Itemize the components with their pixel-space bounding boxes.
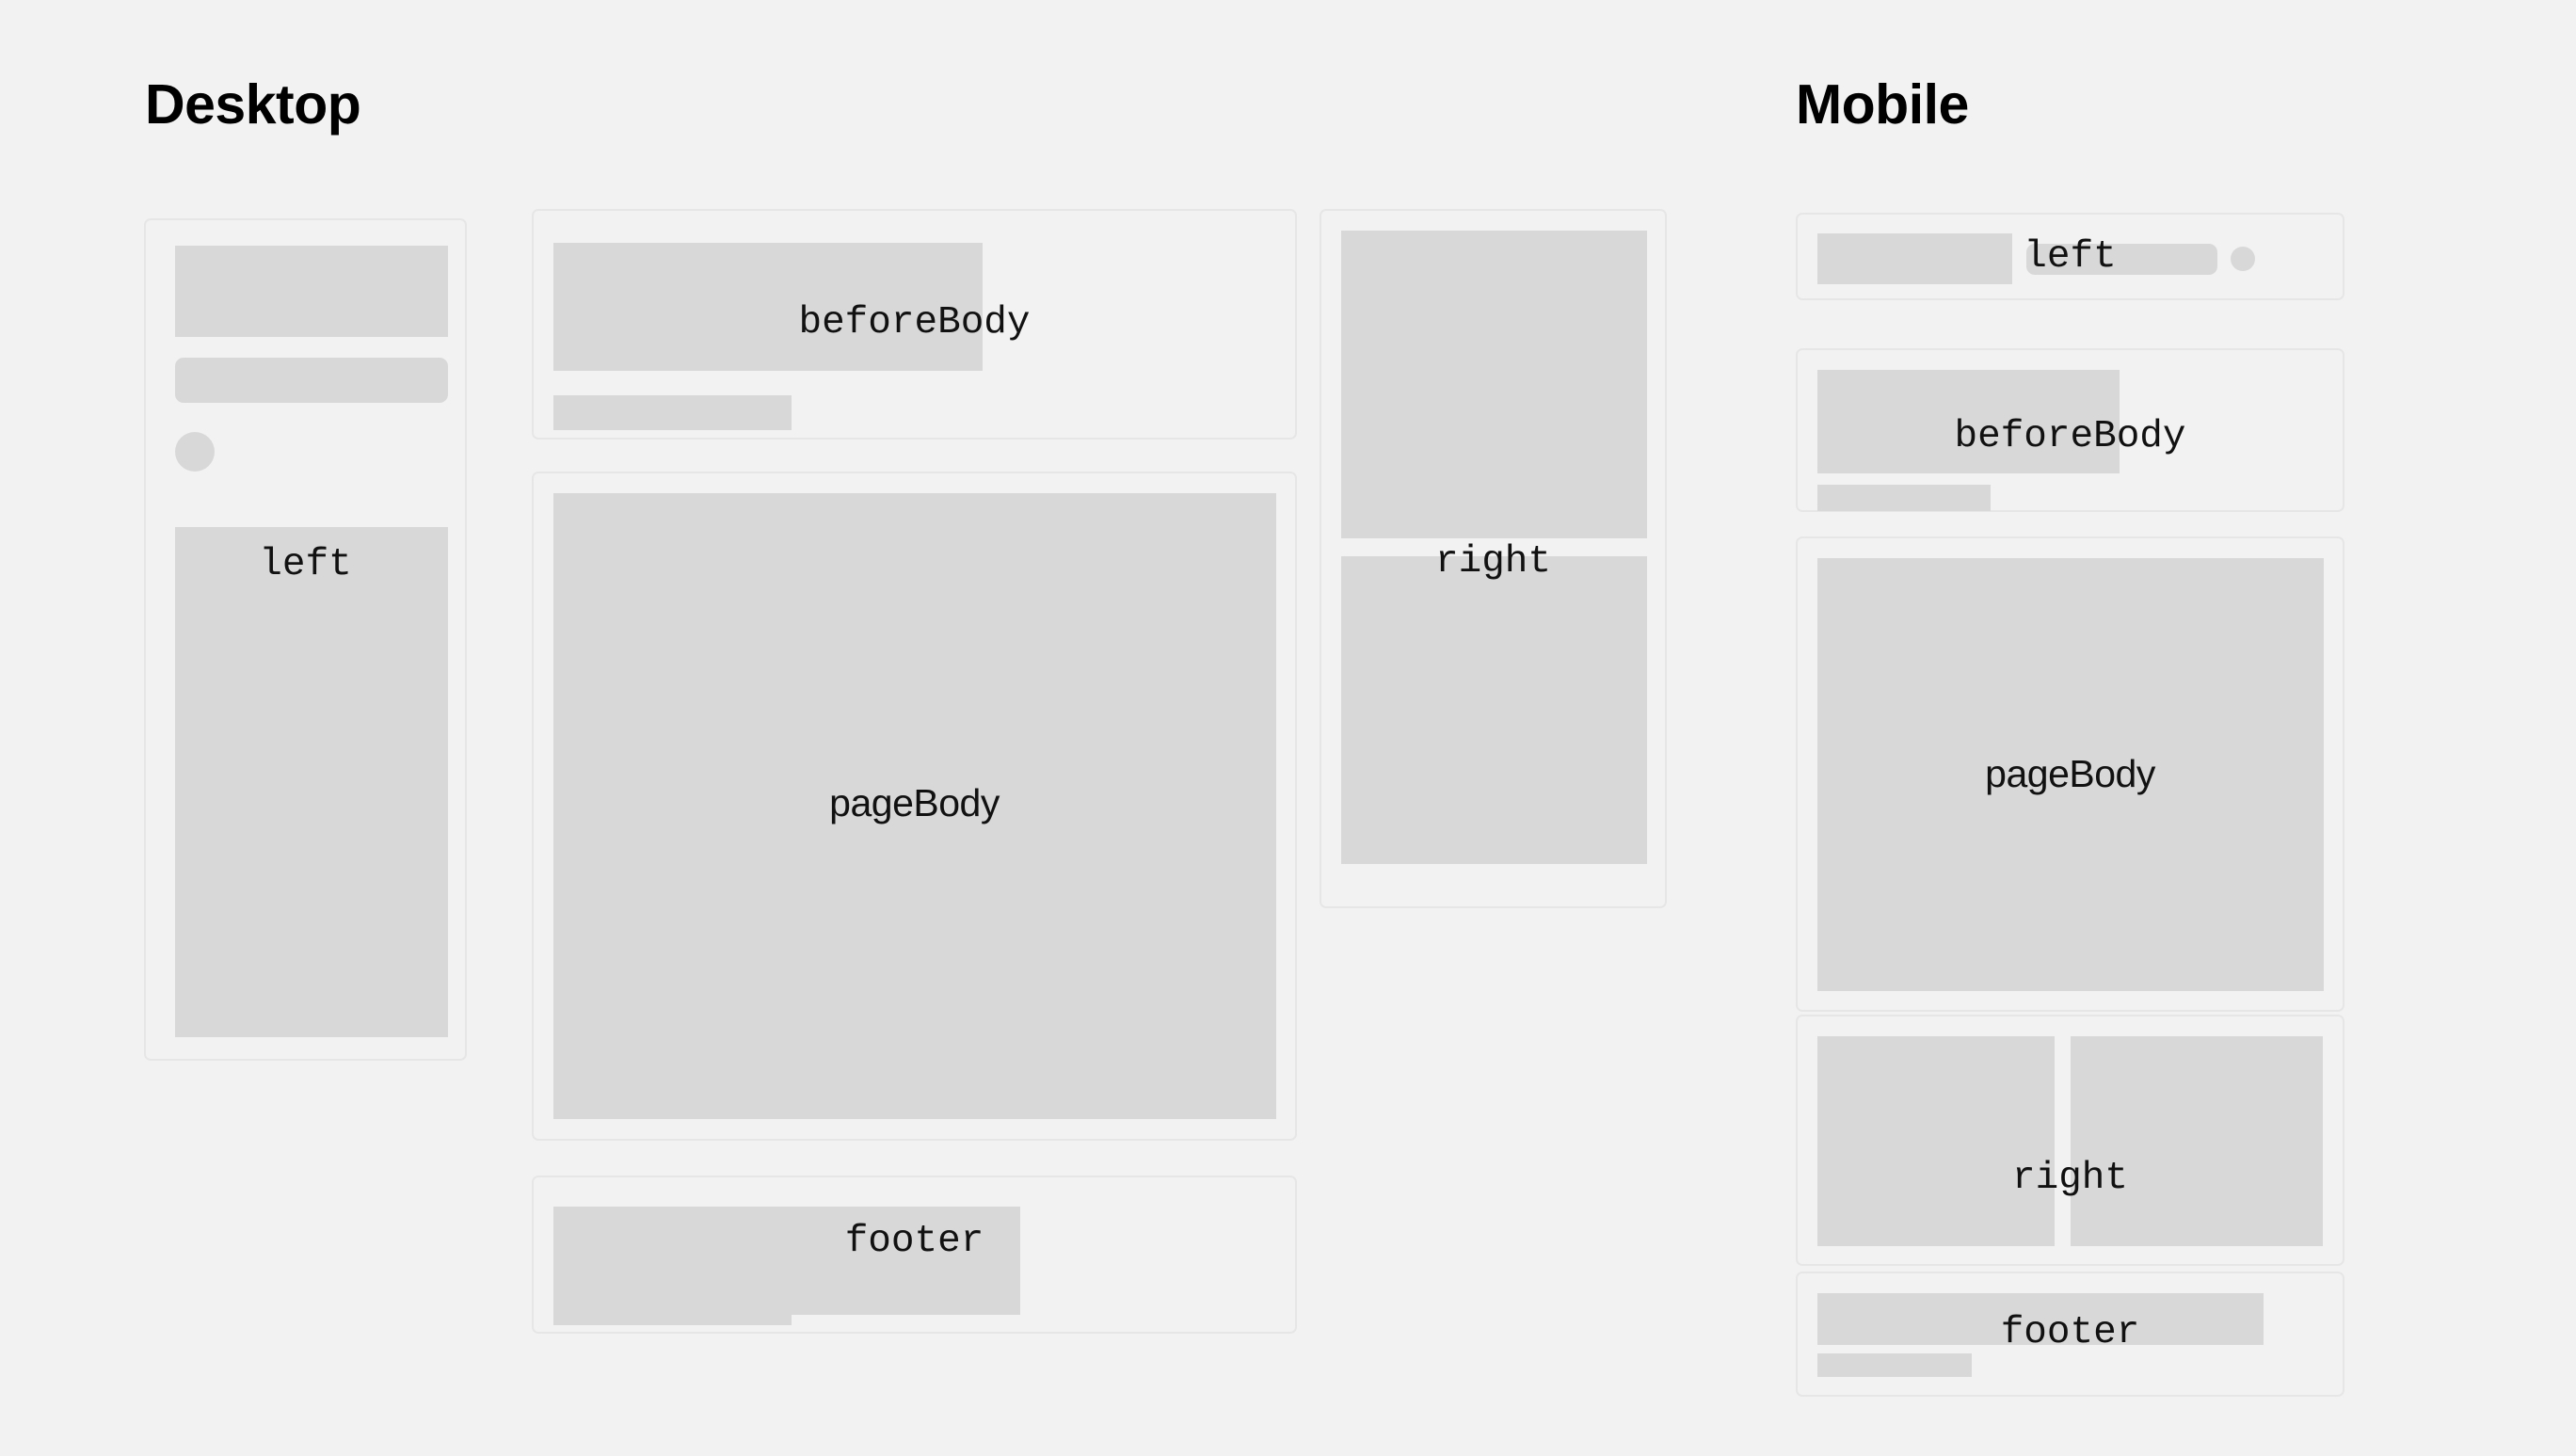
desktop-beforebody-block-large [553, 243, 983, 371]
desktop-left-block-2 [175, 358, 448, 403]
mobile-footer-block-small [1817, 1353, 1972, 1377]
desktop-pagebody-block [553, 493, 1276, 1119]
desktop-footer-block-small [553, 1290, 792, 1325]
desktop-footer-card[interactable] [532, 1176, 1297, 1334]
mobile-footer-block-large [1817, 1293, 2264, 1345]
mobile-beforebody-block-large [1817, 370, 2120, 473]
mobile-pagebody-block [1817, 558, 2324, 991]
mobile-right-card[interactable] [1796, 1015, 2344, 1266]
mobile-heading: Mobile [1796, 77, 1969, 133]
desktop-left-card[interactable] [144, 218, 467, 1061]
desktop-left-block-1 [175, 246, 448, 337]
wireframe-canvas: Desktop left beforeBody pageBody right f… [0, 0, 2576, 1456]
mobile-left-avatar-circle [2231, 247, 2255, 271]
desktop-heading: Desktop [145, 77, 360, 133]
desktop-pagebody-card[interactable] [532, 472, 1297, 1141]
mobile-right-block-right [2071, 1036, 2323, 1246]
mobile-left-card[interactable] [1796, 213, 2344, 300]
mobile-right-block-left [1817, 1036, 2055, 1246]
desktop-beforebody-card[interactable] [532, 209, 1297, 440]
mobile-left-block-2 [2026, 244, 2217, 275]
desktop-beforebody-block-small [553, 395, 792, 430]
desktop-right-card[interactable] [1320, 209, 1667, 908]
desktop-right-block-top [1341, 231, 1647, 538]
desktop-left-avatar-circle [175, 432, 215, 472]
mobile-beforebody-block-small [1817, 485, 1991, 511]
mobile-pagebody-card[interactable] [1796, 536, 2344, 1012]
mobile-left-block-1 [1817, 233, 2012, 284]
desktop-left-block-main [175, 527, 448, 1037]
mobile-footer-card[interactable] [1796, 1272, 2344, 1397]
mobile-beforebody-card[interactable] [1796, 348, 2344, 512]
desktop-right-block-bottom [1341, 556, 1647, 864]
